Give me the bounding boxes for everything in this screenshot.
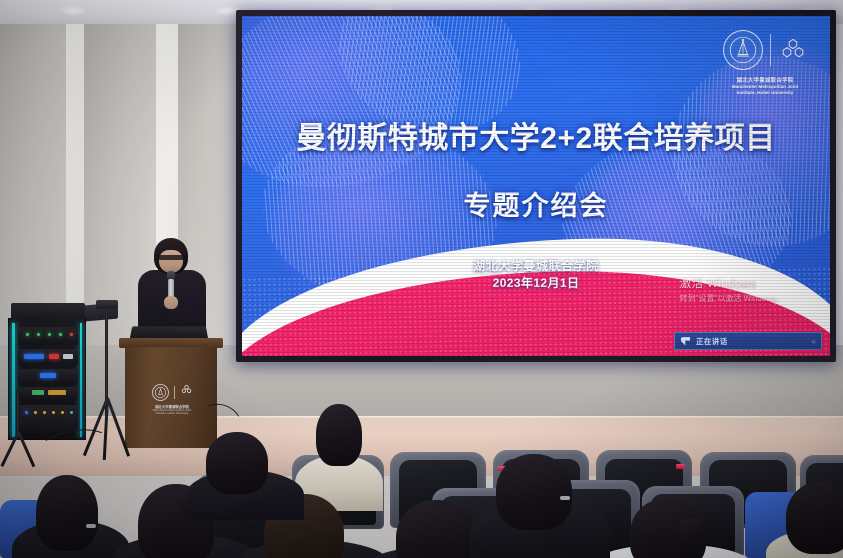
slide-title-sub: 专题介绍会 — [242, 184, 830, 223]
presentation-toolbar[interactable]: 正在讲话 « — [674, 332, 822, 350]
slide-title-main: 曼彻斯特城市大学2+2联合培养项目 — [242, 113, 830, 157]
rack-unit — [18, 349, 78, 365]
podium-logo-plaque: 湖北大学曼城联合学院 Manchester Metropolitan Joint… — [139, 383, 205, 416]
ceiling-light-icon — [60, 6, 86, 15]
lecture-hall-photo: 曼彻斯特城市大学2+2联合培养项目 专题介绍会 湖北大学曼城联合学院 2023年… — [0, 0, 843, 558]
glasses-icon — [158, 255, 184, 260]
slide-logo-en-line2: Institute, Hubei University — [737, 90, 794, 96]
status-led — [26, 333, 29, 336]
watermark-subtitle: 转到"设置"以激活 Windows。 — [680, 293, 784, 304]
display-led — [48, 390, 66, 395]
status-led — [59, 333, 62, 336]
presenter-icon — [681, 337, 690, 346]
mmu-hexagon-icon — [778, 35, 808, 65]
tripod-pole — [16, 390, 19, 436]
university-seal-icon — [723, 30, 763, 70]
status-led — [48, 333, 51, 336]
status-led — [37, 333, 40, 336]
tripod-leg — [17, 431, 35, 467]
status-led — [70, 411, 73, 414]
presenter-face — [159, 250, 183, 273]
logo-divider — [174, 386, 175, 399]
attendee-head — [496, 454, 572, 530]
university-seal-icon — [152, 384, 169, 401]
chevron-left-icon[interactable]: « — [812, 337, 815, 346]
presenter-hand — [164, 296, 178, 309]
glasses-icon — [560, 496, 570, 500]
display-led — [49, 354, 59, 359]
status-led — [70, 333, 73, 336]
attendee-head — [316, 404, 362, 466]
secondary-tripod — [0, 390, 42, 470]
led-wall-screen: 曼彻斯特城市大学2+2联合培养项目 专题介绍会 湖北大学曼城联合学院 2023年… — [236, 10, 836, 362]
slide-organization: 湖北大学曼城联合学院 — [242, 257, 830, 274]
seat-number-tag — [676, 464, 685, 469]
rack-unit — [18, 327, 78, 345]
glasses-icon — [86, 524, 96, 528]
slide-logo-cn-text: 湖北大学曼城联合学院 — [737, 76, 794, 84]
mmu-hexagon-icon — [180, 383, 193, 401]
status-led — [43, 411, 46, 414]
display-led — [40, 373, 56, 378]
rack-unit — [18, 369, 78, 383]
rack-top-unit — [11, 303, 85, 319]
status-led — [52, 411, 55, 414]
hair-bun — [678, 518, 704, 540]
slide-canvas: 曼彻斯特城市大学2+2联合培养项目 专题介绍会 湖北大学曼城联合学院 2023年… — [242, 16, 830, 356]
status-led — [61, 411, 64, 414]
logo-divider — [770, 34, 771, 66]
slide-logo-lockup: 湖北大学曼城联合学院 Manchester Metropolitan Joint… — [712, 28, 818, 96]
attendee-head — [36, 475, 98, 551]
tripod-leg — [106, 398, 130, 457]
watermark-title: 激活 Windows — [680, 275, 784, 291]
display-led — [63, 354, 73, 359]
tripod-leg — [0, 431, 19, 466]
toolbar-status-label: 正在讲话 — [696, 336, 728, 347]
display-led — [24, 354, 44, 359]
windows-activation-watermark: 激活 Windows 转到"设置"以激活 Windows。 — [680, 275, 784, 304]
attendee-head — [786, 482, 843, 554]
attendee-head — [206, 432, 268, 494]
podium-plaque-en2: Institute, Hubei University — [156, 412, 189, 416]
